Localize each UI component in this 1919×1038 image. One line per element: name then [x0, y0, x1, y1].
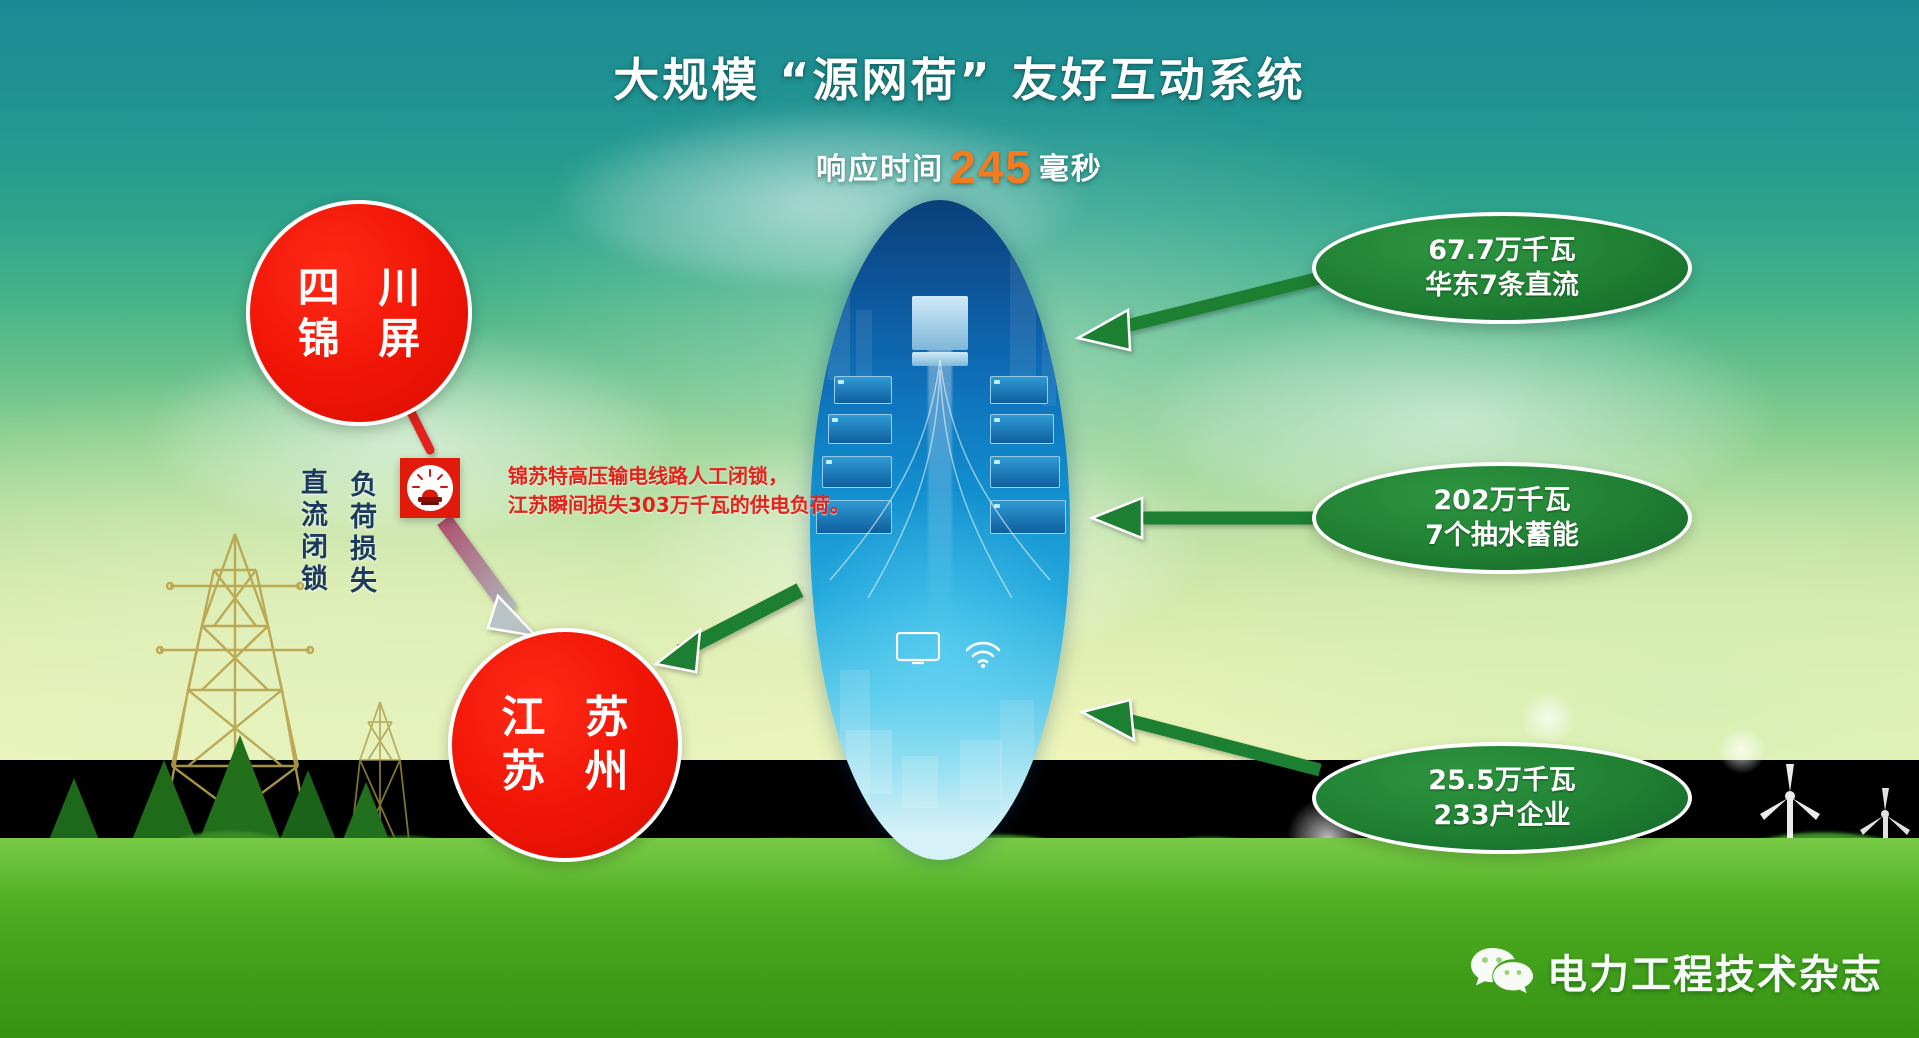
response-time-unit: 毫秒	[1039, 153, 1103, 186]
resource-capacity: 25.5万千瓦	[1428, 763, 1576, 798]
watermark: 电力工程技术杂志	[1471, 942, 1883, 1000]
sichuan-jinping-node[interactable]: 四 川 锦 屏	[246, 200, 472, 426]
fault-alert-line-2: 江苏瞬间损失303万千瓦的供电负荷。	[508, 491, 850, 520]
resource-capacity: 202万千瓦	[1433, 483, 1570, 518]
resource-pill-demand[interactable]: 25.5万千瓦 233户企业	[1312, 742, 1692, 854]
siren-icon	[407, 465, 453, 511]
load-loss-label: 负荷损失	[345, 470, 376, 598]
server-rack	[912, 296, 968, 350]
city-block	[846, 730, 892, 794]
wechat-icon	[1471, 946, 1533, 996]
wifi-icon	[962, 638, 1004, 668]
page-title: 大规模 “源网荷” 友好互动系统	[0, 44, 1919, 110]
fault-alert-text: 锦苏特高压输电线路人工闭锁， 江苏瞬间损失303万千瓦的供电负荷。	[508, 462, 850, 520]
fault-alert-line-1: 锦苏特高压输电线路人工闭锁，	[508, 462, 850, 491]
node-line-1: 四 川	[286, 262, 433, 313]
resource-detail: 7个抽水蓄能	[1425, 518, 1579, 553]
infographic-poster: 大规模 “源网荷” 友好互动系统 响应时间245毫秒	[0, 0, 1919, 1038]
response-time-subtitle: 响应时间245毫秒	[0, 140, 1919, 194]
interaction-platform-oval[interactable]	[810, 200, 1070, 860]
resource-capacity: 67.7万千瓦	[1428, 233, 1576, 268]
siren-alarm-badge[interactable]	[400, 458, 460, 518]
watermark-text: 电力工程技术杂志	[1547, 942, 1883, 1000]
city-block	[902, 756, 938, 808]
grass-field	[0, 838, 1919, 1038]
monitor-icon	[896, 632, 940, 666]
node-line-2: 锦 屏	[286, 313, 433, 364]
dc-blocking-label: 直流闭锁	[296, 468, 327, 596]
data-bar	[1000, 700, 1034, 820]
response-time-value: 245	[950, 141, 1033, 193]
resource-detail: 233户企业	[1433, 798, 1570, 833]
jiangsu-suzhou-node[interactable]: 江 苏 苏 州	[448, 628, 682, 862]
city-block	[960, 740, 1002, 800]
resource-pill-pumped[interactable]: 202万千瓦 7个抽水蓄能	[1312, 462, 1692, 574]
response-time-label: 响应时间	[816, 153, 944, 186]
resource-pill-hvdc[interactable]: 67.7万千瓦 华东7条直流	[1312, 212, 1692, 324]
node-line-2: 苏 州	[489, 745, 640, 799]
node-line-1: 江 苏	[489, 691, 640, 745]
resource-detail: 华东7条直流	[1425, 268, 1579, 303]
